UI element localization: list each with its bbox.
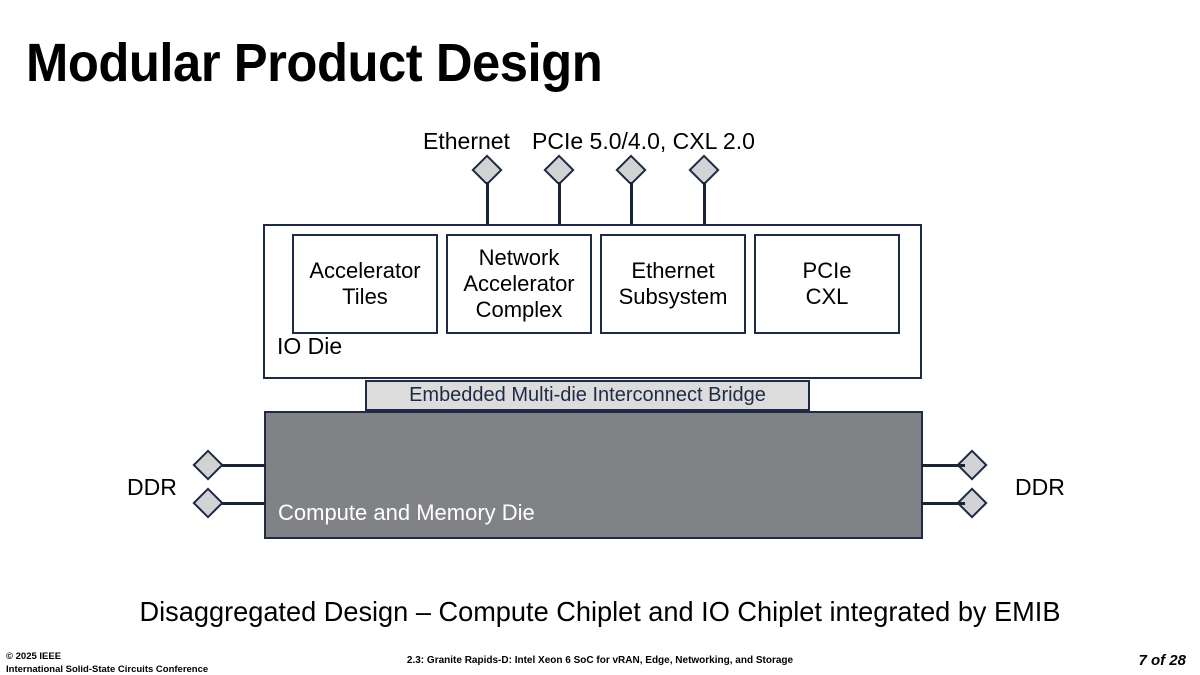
block-pcie-cxl: PCIe CXL (754, 234, 900, 334)
ddr-left-label: DDR (127, 474, 177, 501)
compute-memory-die-label: Compute and Memory Die (278, 500, 535, 526)
pcie-port-3-diamond-icon (688, 154, 719, 185)
pcie-port-2-diamond-icon (615, 154, 646, 185)
pcie-cxl-port-label: PCIe 5.0/4.0, CXL 2.0 (532, 128, 755, 155)
footer-session-title: 2.3: Granite Rapids-D: Intel Xeon 6 SoC … (0, 655, 1200, 666)
ddr-left-diamond-2-icon (192, 487, 223, 518)
pcie-port-2-connector-line (630, 182, 633, 226)
ddr-left-connector-line-2 (222, 502, 266, 505)
pcie-port-3-connector-line (703, 182, 706, 226)
ddr-right-connector-line-2 (921, 502, 965, 505)
ddr-right-label: DDR (1015, 474, 1065, 501)
ddr-left-connector-line-1 (222, 464, 266, 467)
ddr-left-diamond-1-icon (192, 449, 223, 480)
slide-canvas: Modular Product Design Ethernet PCIe 5.0… (0, 0, 1200, 675)
ethernet-port-connector-line (486, 182, 489, 226)
ethernet-port-label: Ethernet (423, 128, 510, 155)
emib-bridge-block: Embedded Multi-die Interconnect Bridge (365, 380, 810, 411)
slide-caption: Disaggregated Design – Compute Chiplet a… (18, 596, 1182, 628)
pcie-port-1-diamond-icon (543, 154, 574, 185)
pcie-port-1-connector-line (558, 182, 561, 226)
block-ethernet-subsystem: Ethernet Subsystem (600, 234, 746, 334)
block-network-accelerator-complex: Network Accelerator Complex (446, 234, 592, 334)
block-accelerator-tiles: Accelerator Tiles (292, 234, 438, 334)
compute-memory-die-block: Compute and Memory Die (264, 411, 923, 539)
io-die-label: IO Die (277, 333, 342, 360)
page-title: Modular Product Design (26, 34, 602, 93)
footer-page-number: 7 of 28 (1138, 652, 1186, 669)
ethernet-port-diamond-icon (471, 154, 502, 185)
ddr-right-connector-line-1 (921, 464, 965, 467)
io-die-block: Accelerator Tiles Network Accelerator Co… (263, 224, 922, 379)
